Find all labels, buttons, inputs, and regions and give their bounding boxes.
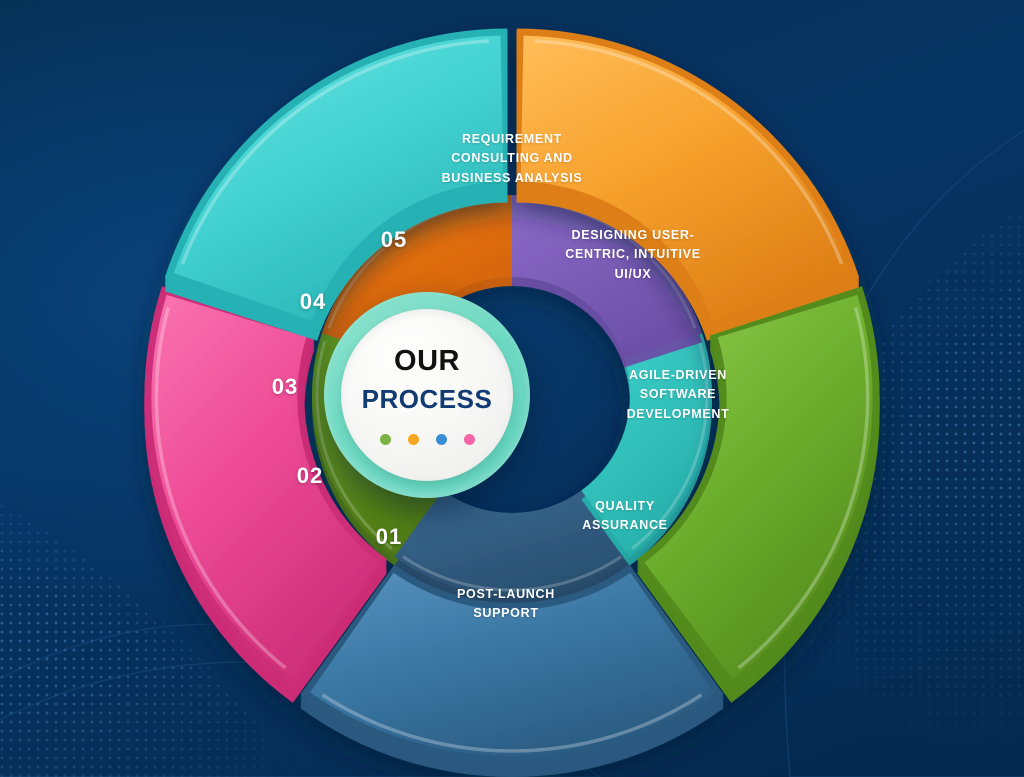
hub-dot-row	[380, 434, 475, 445]
hub-dot-3	[436, 434, 447, 445]
process-wheel-diagram: REQUIREMENT CONSULTING AND BUSINESS ANAL…	[0, 0, 1024, 777]
hub-title-line-1: OUR	[394, 345, 460, 378]
center-hub: OUR PROCESS	[324, 292, 530, 498]
hub-title-line-2: PROCESS	[362, 384, 493, 415]
center-disc: OUR PROCESS	[341, 309, 513, 481]
hub-dot-2	[408, 434, 419, 445]
hub-dot-1	[380, 434, 391, 445]
hub-dot-4	[464, 434, 475, 445]
